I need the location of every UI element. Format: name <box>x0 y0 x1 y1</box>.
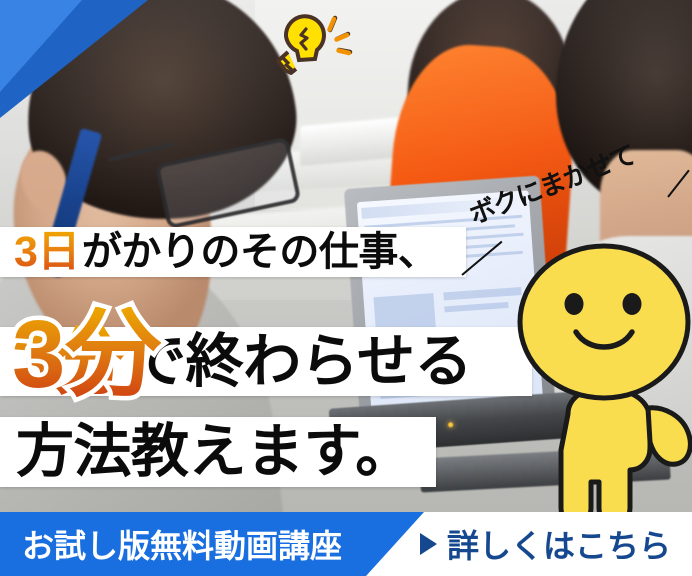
headline-1-accent: 3日 <box>14 231 80 274</box>
blue-corner-flag-highlight <box>0 0 82 92</box>
advertisement-banner[interactable]: ボクにまかせて 3日 がかりのその仕事、 3分 で <box>0 0 692 576</box>
cta-badge[interactable]: お試し版無料動画講座 <box>0 512 424 576</box>
headline-2-accent-overflow: 3分 <box>12 307 161 403</box>
lightbulb-idea-icon <box>262 8 358 78</box>
cta-link-label: 詳しくはこちら <box>447 521 671 567</box>
headline-1-rest: がかりのその仕事、 <box>82 232 438 272</box>
yellow-smiley-mascot <box>498 236 692 530</box>
cta-link[interactable]: 詳しくはこちら <box>420 512 671 576</box>
cta-bar[interactable]: お試し版無料動画講座 詳しくはこちら <box>0 512 692 576</box>
headline-line-1: 3日 がかりのその仕事、 <box>0 227 466 277</box>
play-triangle-icon <box>420 533 437 555</box>
headline-3-rest: 方法教えます。 <box>16 423 413 481</box>
headline-line-3: 方法教えます。 <box>0 417 436 487</box>
headline-2-rest: で終わらせる <box>128 333 472 391</box>
cta-badge-label: お試し版無料動画講座 <box>22 521 342 567</box>
